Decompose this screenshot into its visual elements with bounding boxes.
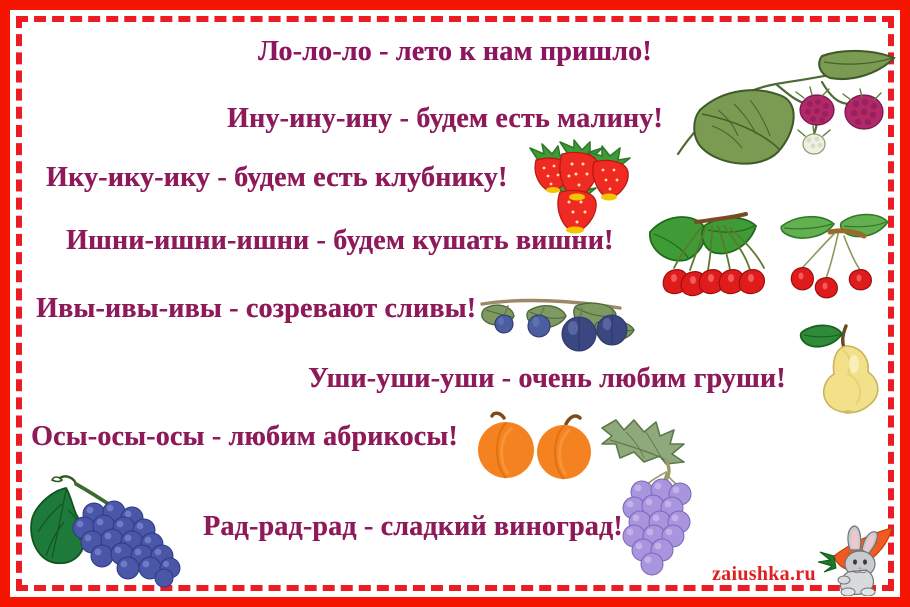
- site-watermark: zaiushka.ru: [712, 563, 816, 586]
- cherry-cluster-illustration: [646, 212, 778, 298]
- poem-line-2: Ину-ину-ину - будем есть малину!: [227, 103, 663, 135]
- apricot-illustration: [478, 412, 600, 480]
- poem-line-5: Ивы-ивы-ивы - созревают сливы!: [36, 293, 476, 325]
- strawberry-illustration: [528, 142, 636, 234]
- poem-line-4: Ишни-ишни-ишни - будем кушать вишни!: [66, 225, 613, 257]
- poster-canvas: Ло-ло-ло - лето к нам пришло! Ину-ину-ин…: [0, 0, 910, 607]
- dark-grapes-illustration: [22, 470, 202, 586]
- poem-line-3: Ику-ику-ику - будем есть клубнику!: [46, 162, 507, 194]
- raspberry-branch-illustration: [672, 48, 900, 176]
- green-grapes-illustration: [600, 418, 710, 578]
- poem-line-1: Ло-ло-ло - лето к нам пришло!: [258, 36, 652, 68]
- cherry-sprig-illustration: [780, 212, 890, 294]
- poem-line-7: Осы-осы-осы - любим абрикосы!: [31, 421, 458, 453]
- bunny-with-carrot-mascot: [818, 522, 894, 596]
- pear-illustration: [798, 320, 886, 416]
- poem-line-8: Рад-рад-рад - сладкий виноград!: [203, 511, 623, 543]
- plum-branch-illustration: [480, 296, 642, 362]
- poem-line-6: Уши-уши-уши - очень любим груши!: [308, 363, 786, 395]
